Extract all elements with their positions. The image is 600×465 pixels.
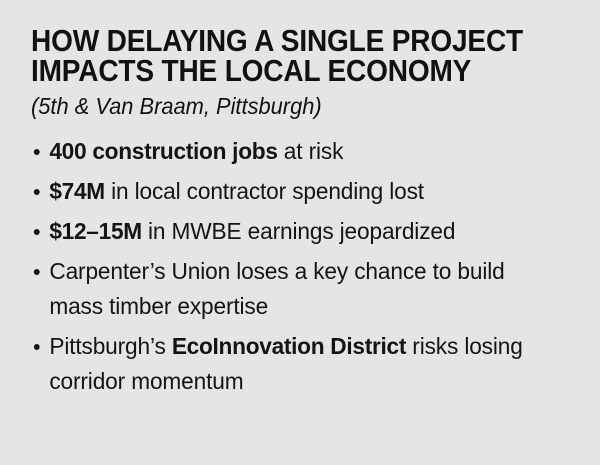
bullet-emphasis-text: $74M [49,178,105,204]
list-item: $74M in local contractor spending lost [31,174,551,209]
subtitle-location: (5th & Van Braam, Pittsburgh) [31,91,543,121]
page-title: HOW DELAYING A SINGLE PROJECT IMPACTS TH… [31,26,519,86]
infographic-card: HOW DELAYING A SINGLE PROJECT IMPACTS TH… [0,0,600,465]
bullet-rest-text: at risk [278,138,344,164]
bullet-rest-text: Carpenter’s Union loses a key chance to … [49,258,504,319]
list-item: Carpenter’s Union loses a key chance to … [31,254,551,324]
headline-line-1: HOW DELAYING A SINGLE PROJECT [31,26,519,56]
bullet-lead-text: Pittsburgh’s [49,333,171,359]
impact-bullet-list: 400 construction jobs at risk $74M in lo… [31,134,570,399]
bullet-emphasis-text: 400 construction jobs [49,138,277,164]
headline-line-2: IMPACTS THE LOCAL ECONOMY [31,56,519,86]
bullet-rest-text: in MWBE earnings jeopardized [142,218,455,244]
list-item: Pittsburgh’s EcoInnovation District risk… [31,329,551,399]
list-item: 400 construction jobs at risk [31,134,551,169]
bullet-emphasis-text: EcoInnovation District [172,333,406,359]
list-item: $12–15M in MWBE earnings jeopardized [31,214,551,249]
bullet-emphasis-text: $12–15M [49,218,142,244]
bullet-rest-text: in local contractor spending lost [105,178,424,204]
